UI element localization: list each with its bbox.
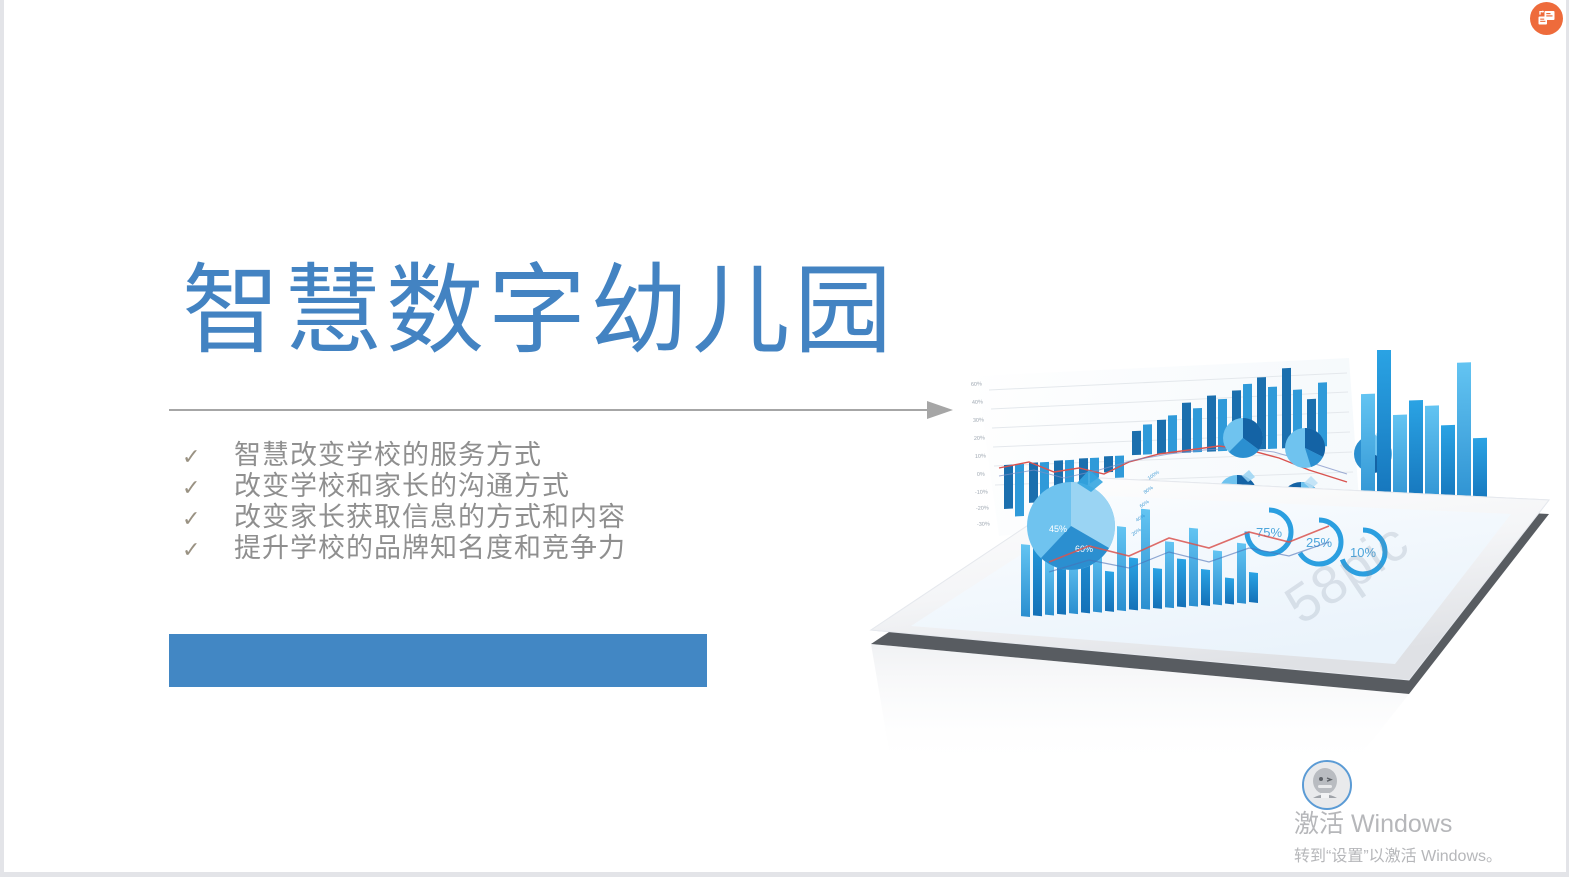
svg-text:0%: 0%	[977, 472, 985, 478]
svg-text:10%: 10%	[975, 453, 986, 460]
activation-title: 激活 Windows	[1294, 804, 1564, 840]
windows-activation-watermark: 激活 Windows 转到“设置”以激活 Windows。	[1294, 760, 1564, 866]
list-item-label: 提升学校的品牌知名度和竞争力	[234, 533, 626, 564]
svg-text:-20%: -20%	[976, 505, 989, 512]
right-cluster-bars	[1361, 350, 1487, 514]
check-icon: ✓	[182, 441, 234, 472]
presentation-slide-glyph	[1537, 9, 1556, 28]
banner-bar	[169, 634, 707, 687]
gauge-10-label: 10%	[1350, 545, 1376, 560]
svg-text:45%: 45%	[1049, 524, 1067, 534]
svg-text:60%: 60%	[1075, 544, 1093, 554]
tablet-3d-analytics-illustration: 60% 40% 30% 20% 10% 0% -10% -20% -30%	[849, 350, 1569, 770]
svg-text:40%: 40%	[972, 399, 983, 406]
svg-text:60%: 60%	[971, 381, 982, 388]
page-title: 智慧数字幼儿园	[182, 258, 942, 364]
list-item-label: 智慧改变学校的服务方式	[234, 440, 542, 471]
svg-text:-10%: -10%	[975, 489, 988, 496]
check-icon: ✓	[182, 503, 234, 534]
analytics-illustration-svg: 60% 40% 30% 20% 10% 0% -10% -20% -30%	[849, 350, 1569, 770]
tablet-device	[871, 478, 1549, 770]
svg-text:-30%: -30%	[977, 521, 990, 528]
list-item: ✓ 改变学校和家长的沟通方式	[182, 471, 626, 502]
presentation-slide-icon[interactable]	[1530, 2, 1563, 35]
svg-text:30%: 30%	[973, 417, 984, 424]
pie-grid-1	[1223, 418, 1263, 458]
divider-line	[169, 409, 931, 411]
list-item: ✓ 智慧改变学校的服务方式	[182, 440, 626, 471]
check-icon: ✓	[182, 534, 234, 565]
activation-subtitle: 转到“设置”以激活 Windows。	[1294, 842, 1564, 866]
title-block: 智慧数字幼儿园	[182, 258, 942, 364]
list-item-label: 改变学校和家长的沟通方式	[234, 471, 570, 502]
slide-canvas: 智慧数字幼儿园 ✓ 智慧改变学校的服务方式 ✓ 改变学校和家长的沟通方式 ✓ 改…	[0, 0, 1569, 877]
bullet-list: ✓ 智慧改变学校的服务方式 ✓ 改变学校和家长的沟通方式 ✓ 改变家长获取信息的…	[182, 440, 626, 564]
list-item: ✓ 改变家长获取信息的方式和内容	[182, 502, 626, 533]
pie-grid-2	[1285, 428, 1325, 468]
arrow-divider	[169, 399, 954, 421]
check-icon: ✓	[182, 472, 234, 503]
list-item-label: 改变家长获取信息的方式和内容	[234, 502, 626, 533]
svg-text:20%: 20%	[974, 435, 985, 442]
list-item: ✓ 提升学校的品牌知名度和竞争力	[182, 533, 626, 564]
